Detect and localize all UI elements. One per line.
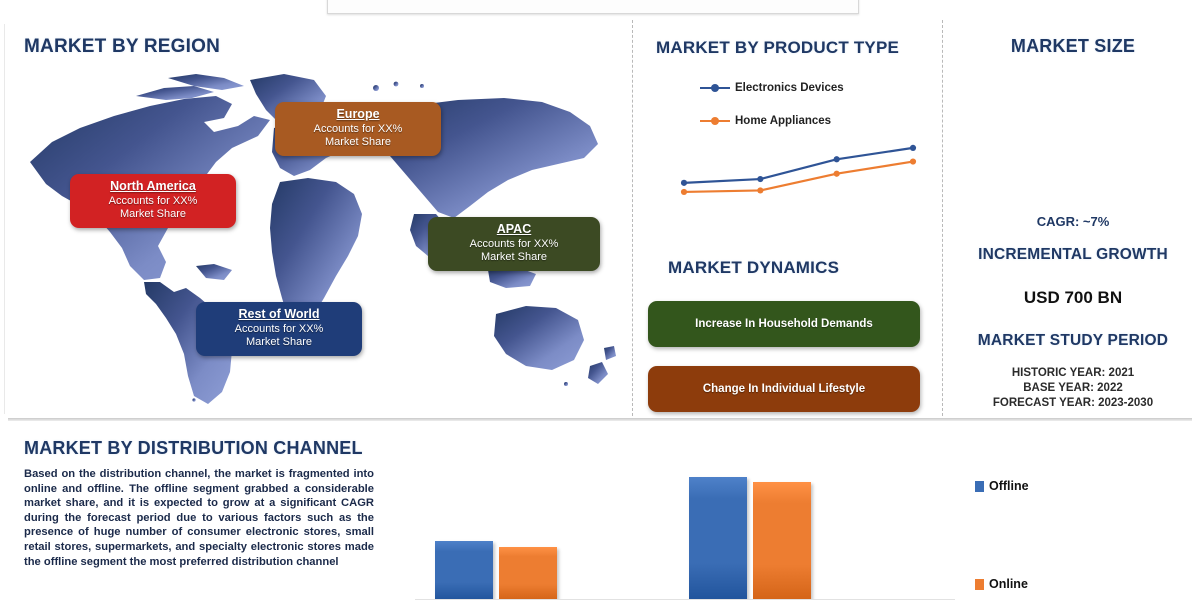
distribution-bar xyxy=(435,541,493,600)
top-row: MARKET BY REGION xyxy=(0,14,1200,418)
region-tag-line2: Market Share xyxy=(438,251,590,264)
region-tag-name: APAC xyxy=(438,222,590,237)
legend-item-online[interactable]: Online xyxy=(975,577,1028,591)
region-tag-name: North America xyxy=(80,179,226,194)
region-tag-rest-of-world[interactable]: Rest of World Accounts for XX% Market Sh… xyxy=(196,302,362,356)
region-tag-name: Europe xyxy=(285,107,431,122)
market-study-period-list: HISTORIC YEAR: 2021BASE YEAR: 2022FORECA… xyxy=(946,366,1200,411)
bar-fill xyxy=(753,482,811,600)
page-title-market-by-region: MARKET BY REGION xyxy=(24,36,220,58)
dynamics-item-label: Change In Individual Lifestyle xyxy=(703,383,865,395)
page-title-market-by-distribution-channel: MARKET BY DISTRIBUTION CHANNEL xyxy=(24,438,363,459)
distribution-body-text: Based on the distribution channel, the m… xyxy=(24,467,374,569)
dynamics-item-label: Increase In Household Demands xyxy=(695,318,873,330)
page-title-incremental-growth: INCREMENTAL GROWTH xyxy=(946,246,1200,264)
legend-label: Online xyxy=(989,577,1028,591)
divider-horizontal xyxy=(8,418,1192,421)
market-study-period-line: BASE YEAR: 2022 xyxy=(946,381,1200,396)
region-tag-line1: Accounts for XX% xyxy=(80,195,226,208)
bar-fill xyxy=(689,477,747,600)
page-title-market-size: MARKET SIZE xyxy=(946,36,1200,57)
infographic-page: MARKET BY REGION xyxy=(0,0,1200,600)
distribution-channel-bar-chart xyxy=(415,460,955,600)
market-study-period-line: FORECAST YEAR: 2023-2030 xyxy=(946,396,1200,411)
region-tag-line1: Accounts for XX% xyxy=(285,123,431,136)
line-marker-circle-icon xyxy=(700,83,730,93)
region-tag-north-america[interactable]: North America Accounts for XX% Market Sh… xyxy=(70,174,236,228)
legend-label: Offline xyxy=(989,479,1029,493)
market-size-panel: MARKET SIZE 2028F2020 CAGR: ~7% INCREMEN… xyxy=(946,14,1200,418)
bar-fill xyxy=(435,541,493,600)
legend-item-home-appliances[interactable]: Home Appliances xyxy=(700,115,831,127)
legend-swatch-icon xyxy=(975,481,984,492)
region-tag-line2: Market Share xyxy=(285,136,431,149)
legend-label: Home Appliances xyxy=(735,115,831,127)
market-by-region-panel: MARKET BY REGION xyxy=(0,14,632,418)
bar-fill xyxy=(499,547,557,600)
distribution-bar xyxy=(689,477,747,600)
legend-item-electronics-devices[interactable]: Electronics Devices xyxy=(700,82,844,94)
product-type-line-chart xyxy=(676,132,921,222)
region-tag-line1: Accounts for XX% xyxy=(438,238,590,251)
region-tag-apac[interactable]: APAC Accounts for XX% Market Share xyxy=(428,217,600,271)
divider-vertical-2 xyxy=(942,20,943,416)
distribution-bar xyxy=(753,482,811,600)
top-banner xyxy=(327,0,859,14)
page-title-market-study-period: MARKET STUDY PERIOD xyxy=(946,332,1200,350)
distribution-bar xyxy=(499,547,557,600)
market-study-period-line: HISTORIC YEAR: 2021 xyxy=(946,366,1200,381)
market-by-distribution-channel-panel: MARKET BY DISTRIBUTION CHANNEL Based on … xyxy=(0,424,1200,600)
legend-item-offline[interactable]: Offline xyxy=(975,479,1029,493)
region-tag-line1: Accounts for XX% xyxy=(206,323,352,336)
line-marker-circle-icon xyxy=(700,116,730,126)
divider-vertical-1 xyxy=(632,20,633,416)
legend-label: Electronics Devices xyxy=(735,82,844,94)
incremental-growth-value: USD 700 BN xyxy=(946,288,1200,308)
region-tag-europe[interactable]: Europe Accounts for XX% Market Share xyxy=(275,102,441,156)
region-tag-line2: Market Share xyxy=(206,336,352,349)
page-title-market-by-product-type: MARKET BY PRODUCT TYPE xyxy=(656,38,899,58)
dynamics-item-change-in-individual-lifestyle[interactable]: Change In Individual Lifestyle xyxy=(648,366,920,412)
legend-swatch-icon xyxy=(975,579,984,590)
page-title-market-dynamics: MARKET DYNAMICS xyxy=(668,258,839,278)
cagr-value: CAGR: ~7% xyxy=(946,214,1200,229)
dynamics-item-increase-in-household-demands[interactable]: Increase In Household Demands xyxy=(648,301,920,347)
region-tag-line2: Market Share xyxy=(80,208,226,221)
region-tag-name: Rest of World xyxy=(206,307,352,322)
